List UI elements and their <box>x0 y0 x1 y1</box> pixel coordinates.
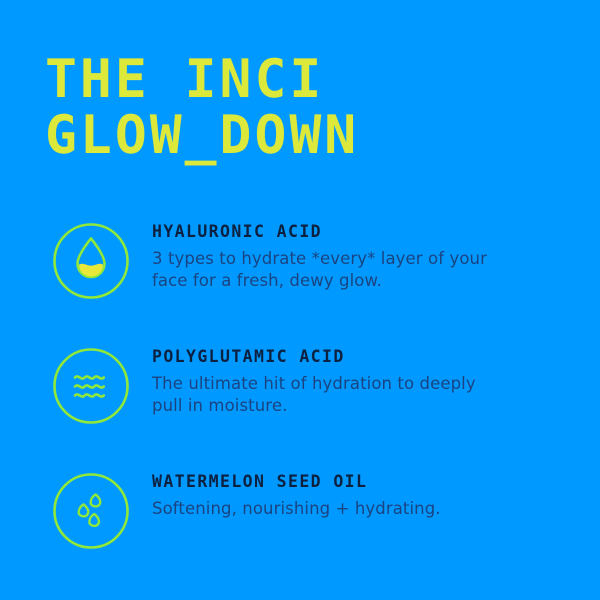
ingredient-heading: HYALURONIC ACID <box>152 222 572 242</box>
list-item: WATERMELON SEED OIL Softening, nourishin… <box>0 466 600 591</box>
water-waves-icon <box>52 347 130 425</box>
water-droplet-icon <box>52 222 130 300</box>
ingredient-description: The ultimate hit of hydration to deeply … <box>152 373 497 417</box>
list-item-text: WATERMELON SEED OIL Softening, nourishin… <box>152 472 572 520</box>
list-item-text: POLYGLUTAMIC ACID The ultimate hit of hy… <box>152 347 572 417</box>
list-item: HYALURONIC ACID 3 types to hydrate *ever… <box>0 216 600 341</box>
watermelon-seeds-icon <box>52 472 130 550</box>
page-title-line-2: GLOW_DOWN <box>45 108 565 164</box>
glow-down-card: THE INCI GLOW_DOWN HYALURONIC ACID 3 typ… <box>0 0 600 600</box>
page-title: THE INCI GLOW_DOWN <box>45 52 565 164</box>
ingredient-list: HYALURONIC ACID 3 types to hydrate *ever… <box>0 216 600 591</box>
list-item-text: HYALURONIC ACID 3 types to hydrate *ever… <box>152 222 572 292</box>
ingredient-description: Softening, nourishing + hydrating. <box>152 498 497 520</box>
ingredient-heading: POLYGLUTAMIC ACID <box>152 347 572 367</box>
list-item: POLYGLUTAMIC ACID The ultimate hit of hy… <box>0 341 600 466</box>
page-title-line-1: THE INCI <box>45 52 565 108</box>
ingredient-description: 3 types to hydrate *every* layer of your… <box>152 248 497 292</box>
ingredient-heading: WATERMELON SEED OIL <box>152 472 572 492</box>
